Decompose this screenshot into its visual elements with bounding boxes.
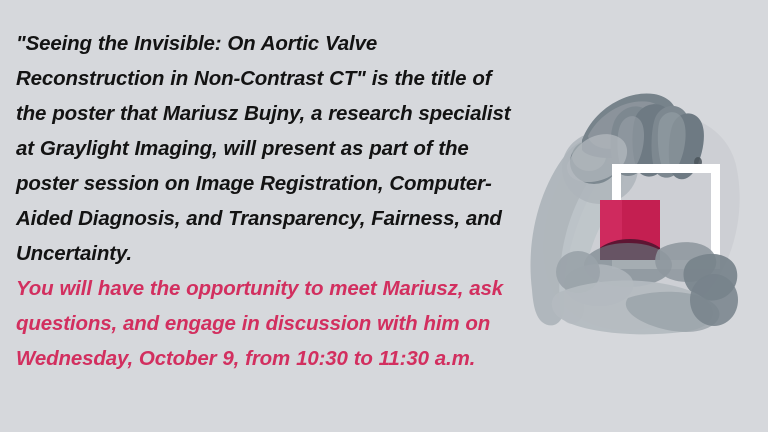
xray-hand-illustration — [508, 60, 768, 360]
invite-paragraph: You will have the opportunity to meet Ma… — [16, 271, 526, 376]
lower-bone-cluster-group — [552, 242, 738, 334]
text-block: "Seeing the Invisible: On Aortic Valve R… — [16, 26, 526, 376]
intro-paragraph: "Seeing the Invisible: On Aortic Valve R… — [16, 26, 526, 271]
slide-canvas: "Seeing the Invisible: On Aortic Valve R… — [0, 0, 768, 432]
